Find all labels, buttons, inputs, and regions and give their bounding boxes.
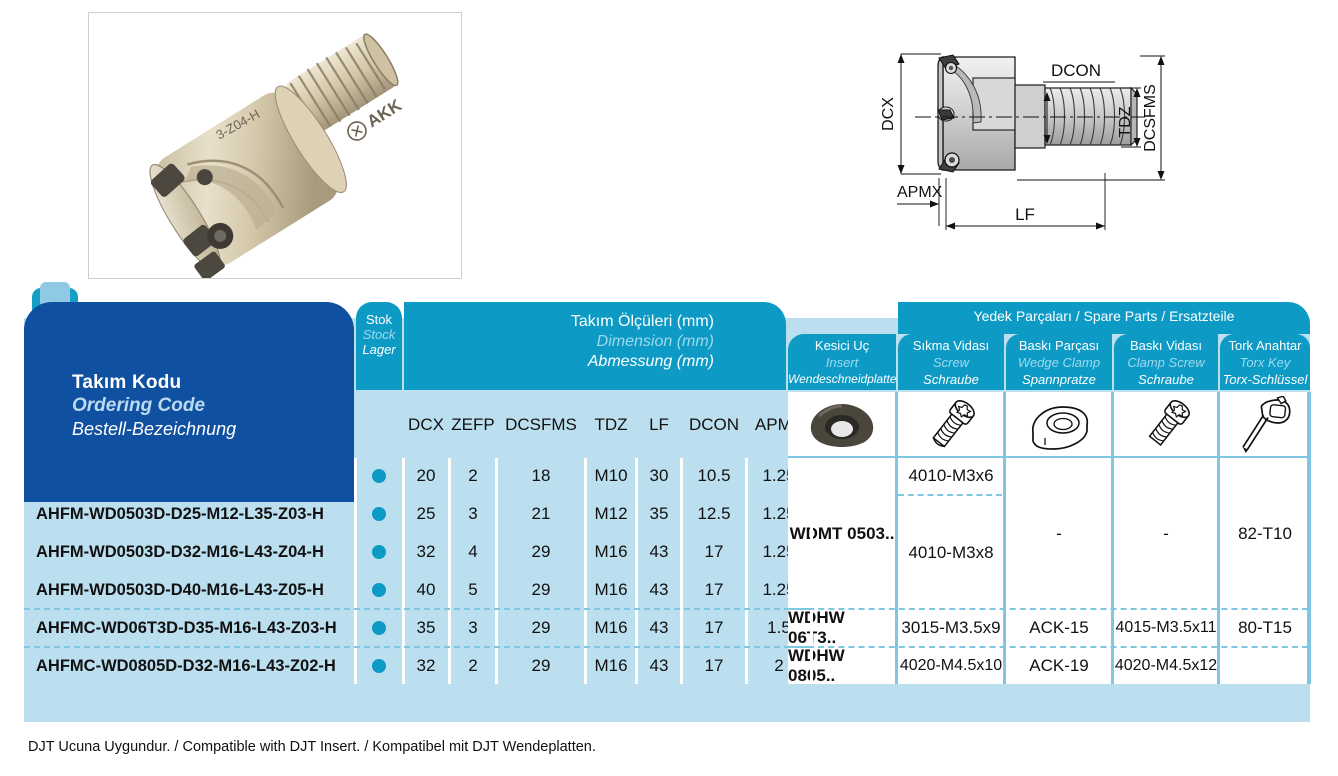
- sep-wedge-clampscrew: [1111, 392, 1114, 684]
- cell-tdz: M12: [587, 496, 635, 532]
- cell-zefp: 5: [451, 572, 495, 608]
- stock-header-tr: Stok: [356, 302, 402, 327]
- row-divider-5-6: [24, 646, 810, 648]
- sep-dcx-zefp: [448, 458, 451, 684]
- stock-header-en: Stock: [356, 327, 402, 342]
- table-row: AHFM-WD0503D-D32-M16-L43-Z04-H: [24, 534, 366, 570]
- clamp-screw-icon-cell: [1114, 392, 1218, 458]
- screw-icon-cell: [898, 392, 1004, 458]
- stock-cell: [356, 648, 402, 684]
- sep-apmx-insert: [810, 458, 813, 684]
- screw-header-tr: Sıkma Vidası: [898, 334, 1004, 354]
- in-stock-dot: [372, 507, 386, 521]
- ordering-code-header-de: Bestell-Bezeichnung: [72, 419, 236, 440]
- col-head-dcx: DCX: [404, 392, 448, 458]
- spare-col-torx-header: Tork Anahtar Torx Key Torx-Schlüssel: [1220, 334, 1310, 390]
- wedge-header-en: Wedge Clamp: [1006, 354, 1112, 371]
- spare-divider-4-5: [788, 608, 1308, 610]
- label-dcsfms: DCSFMS: [1142, 84, 1159, 152]
- sep-insert-screw: [895, 392, 898, 684]
- cell-tdz: M10: [587, 458, 635, 494]
- cell-dcx: 35: [404, 610, 448, 646]
- sep-stock-dcx: [402, 458, 405, 684]
- sep-dcsfms-tdz: [584, 458, 587, 684]
- cell-wedge-row5: ACK-15: [1006, 610, 1112, 646]
- sep-zefp-dcsfms: [495, 458, 498, 684]
- label-dcx: DCX: [880, 97, 897, 131]
- sep-clampscrew-torx: [1217, 392, 1220, 684]
- table-row: AHFM-WD0503D-D40-M16-L43-Z05-H: [24, 572, 366, 608]
- spare-col-screw-header: Sıkma Vidası Screw Schraube: [898, 334, 1004, 390]
- cell-screw-row5: 3015-M3.5x9: [898, 610, 1004, 646]
- in-stock-dot: [372, 583, 386, 597]
- row-divider-4-5: [24, 608, 810, 610]
- cell-tdz: M16: [587, 534, 635, 570]
- torx-key-icon: [1228, 396, 1302, 454]
- cell-lf: 43: [638, 572, 680, 608]
- table-row: AHFMC-WD0805D-D32-M16-L43-Z02-H: [24, 648, 366, 684]
- cell-dcon: 17: [683, 572, 745, 608]
- cell-screw-group: 4010-M3x8: [898, 496, 1004, 610]
- wedge-header-tr: Baskı Parçası: [1006, 334, 1112, 354]
- cell-zefp: 2: [451, 648, 495, 684]
- cell-clampscrew-row5: 4015-M3.5x11: [1114, 610, 1218, 646]
- label-tdz: TDZ: [1117, 106, 1134, 137]
- technical-drawing: DCX APMX LF DCON TDZ: [855, 30, 1305, 280]
- product-table: Takım Kodu Ordering Code Bestell-Bezeich…: [14, 288, 1310, 722]
- table-right-edge: [1307, 392, 1311, 684]
- cell-dcx: 32: [404, 534, 448, 570]
- clampscrew-header-de: Schraube: [1114, 371, 1218, 388]
- cell-dcon: 12.5: [683, 496, 745, 532]
- dimension-header-de: Abmessung (mm): [404, 352, 786, 372]
- table-row: AHFMC-WD06T3D-D35-M16-L43-Z03-H: [24, 610, 366, 646]
- col-head-lf: LF: [638, 392, 680, 458]
- cell-torx-row5: 80-T15: [1220, 610, 1310, 646]
- torx-header-de: Torx-Schlüssel: [1220, 371, 1310, 388]
- in-stock-dot: [372, 621, 386, 635]
- cell-insert-row5: WDHW 06T3..: [788, 610, 896, 646]
- cell-dcon: 17: [683, 610, 745, 646]
- ordering-code-header-tr: Takım Kodu: [72, 372, 181, 394]
- insert-header-en: Insert: [788, 354, 896, 371]
- sep-tdz-lf: [635, 458, 638, 684]
- spare-divider-5-6: [788, 646, 1308, 648]
- clampscrew-header-tr: Baskı Vidası: [1114, 334, 1218, 354]
- sep-lf-dcon: [680, 458, 683, 684]
- cell-dcx: 40: [404, 572, 448, 608]
- stock-cell: [356, 496, 402, 532]
- top-illustration-area: 3-Z04-H AKK: [0, 0, 1338, 285]
- label-dcon: DCON: [1051, 61, 1101, 80]
- ordering-code-header: Takım Kodu Ordering Code Bestell-Bezeich…: [24, 302, 354, 502]
- cell-lf: 35: [638, 496, 680, 532]
- technical-drawing-svg: DCX APMX LF DCON TDZ: [855, 30, 1305, 280]
- cell-dcsfms: 18: [498, 458, 584, 494]
- torx-header-tr: Tork Anahtar: [1220, 334, 1310, 354]
- insert-header: Kesici Uç Insert Wendeschneidplatte: [788, 334, 896, 390]
- insert-icon-cell: [788, 392, 896, 458]
- footnote: DJT Ucuna Uygundur. / Compatible with DJ…: [28, 739, 596, 755]
- cell-lf: 43: [638, 648, 680, 684]
- wedge-clamp-icon-cell: [1006, 392, 1112, 458]
- cell-zefp: 4: [451, 534, 495, 570]
- cell-tdz: M16: [587, 648, 635, 684]
- insert-header-tr: Kesici Uç: [788, 334, 896, 354]
- cell-dcx: 20: [404, 458, 448, 494]
- ordering-code-header-en: Ordering Code: [72, 395, 205, 417]
- sep-code-stock: [354, 458, 357, 684]
- stock-cell: [356, 458, 402, 494]
- stock-cell: [356, 610, 402, 646]
- cell-tdz: M16: [587, 572, 635, 608]
- clampscrew-header-en: Clamp Screw: [1114, 354, 1218, 371]
- cell-screw-row6: 4020-M4.5x10: [898, 648, 1004, 684]
- screw-icon: [919, 396, 983, 454]
- cell-dcx: 25: [404, 496, 448, 532]
- cell-lf: 30: [638, 458, 680, 494]
- icon-row-divider: [788, 456, 1310, 458]
- cell-insert-group1: WDMT 0503..: [788, 458, 896, 610]
- wedge-clamp-icon: [1023, 399, 1095, 451]
- col-head-dcon: DCON: [683, 392, 745, 458]
- spare-col-wedge-header: Baskı Parçası Wedge Clamp Spannpratze: [1006, 334, 1112, 390]
- clamp-screw-icon: [1134, 396, 1198, 454]
- insert-header-de: Wendeschneidplatte: [788, 371, 896, 388]
- stock-cell: [356, 534, 402, 570]
- cell-lf: 43: [638, 610, 680, 646]
- stock-cell: [356, 572, 402, 608]
- col-head-tdz: TDZ: [587, 392, 635, 458]
- cell-dcon: 17: [683, 534, 745, 570]
- torx-key-icon-cell: [1220, 392, 1310, 458]
- wedge-header-de: Spannpratze: [1006, 371, 1112, 388]
- cell-dcon: 10.5: [683, 458, 745, 494]
- screw-header-en: Screw: [898, 354, 1004, 371]
- product-photo-svg: 3-Z04-H AKK: [89, 13, 461, 278]
- cell-zefp: 3: [451, 496, 495, 532]
- cell-dcsfms: 29: [498, 648, 584, 684]
- spare-parts-group-header: Yedek Parçaları / Spare Parts / Ersatzte…: [898, 302, 1310, 334]
- cell-zefp: 3: [451, 610, 495, 646]
- cell-dcsfms: 29: [498, 610, 584, 646]
- screw-header-de: Schraube: [898, 371, 1004, 388]
- stock-header-de: Lager: [356, 342, 402, 357]
- product-photo: 3-Z04-H AKK: [88, 12, 462, 279]
- cell-tdz: M16: [587, 610, 635, 646]
- insert-icon: [805, 400, 879, 450]
- dimension-header-en: Dimension (mm): [404, 332, 786, 352]
- in-stock-dot: [372, 659, 386, 673]
- cell-torx-row6: [1220, 648, 1310, 684]
- torx-header-en: Torx Key: [1220, 354, 1310, 371]
- cell-lf: 43: [638, 534, 680, 570]
- cell-dcsfms: 29: [498, 572, 584, 608]
- cell-dcsfms: 21: [498, 496, 584, 532]
- in-stock-dot: [372, 469, 386, 483]
- col-head-dcsfms: DCSFMS: [498, 392, 584, 458]
- screw-divider-1-2: [898, 494, 1002, 496]
- cell-clampscrew-group: -: [1114, 458, 1218, 610]
- cell-screw-row1: 4010-M3x6: [898, 458, 1004, 494]
- cell-dcsfms: 29: [498, 534, 584, 570]
- cell-dcon: 17: [683, 648, 745, 684]
- label-apmx: APMX: [897, 184, 943, 201]
- cell-dcx: 32: [404, 648, 448, 684]
- spare-col-clampscrew-header: Baskı Vidası Clamp Screw Schraube: [1114, 334, 1218, 390]
- stock-header: Stok Stock Lager: [356, 302, 402, 390]
- cell-wedge-group: -: [1006, 458, 1112, 610]
- label-lf: LF: [1015, 205, 1035, 224]
- cell-torx-group: 82-T10: [1220, 458, 1310, 610]
- sep-screw-wedge: [1003, 392, 1006, 684]
- in-stock-dot: [372, 545, 386, 559]
- cell-wedge-row6: ACK-19: [1006, 648, 1112, 684]
- cell-insert-row6: WDHW 0805..: [788, 648, 896, 684]
- sep-dcon-apmx: [745, 458, 748, 684]
- cell-clampscrew-row6: 4020-M4.5x12: [1114, 648, 1218, 684]
- dimension-header-tr: Takım Ölçüleri (mm): [404, 302, 786, 332]
- cell-zefp: 2: [451, 458, 495, 494]
- spare-parts-group-label: Yedek Parçaları / Spare Parts / Ersatzte…: [974, 302, 1235, 324]
- dimension-header: Takım Ölçüleri (mm) Dimension (mm) Abmes…: [404, 302, 786, 390]
- col-head-zefp: ZEFP: [451, 392, 495, 458]
